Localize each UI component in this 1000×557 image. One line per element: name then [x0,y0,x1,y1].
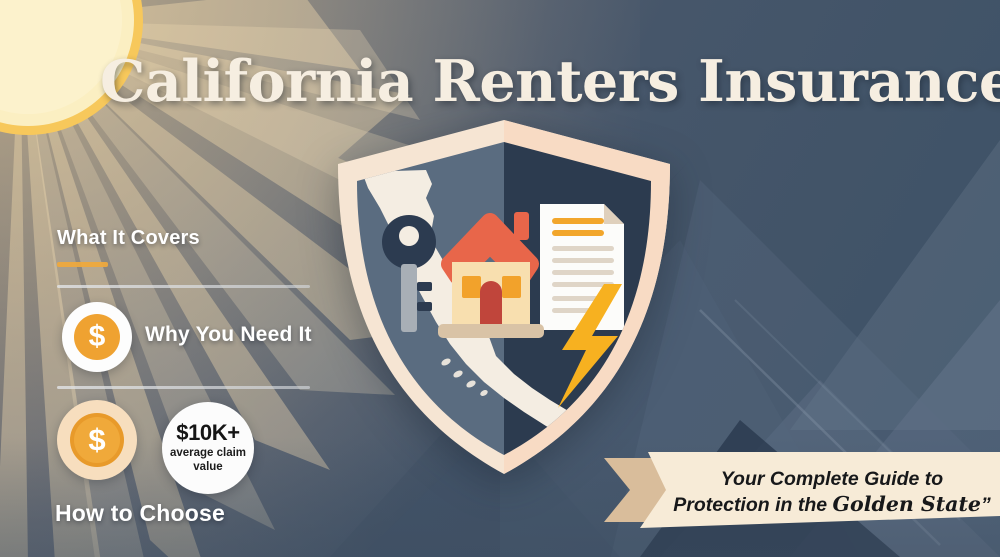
status-badge: $10K+ average claim value [162,402,254,494]
divider-2 [57,386,310,389]
sidebar: What It Covers $ Why You Need It $ $10K+… [0,0,330,557]
ribbon-text: Your Complete Guide to Protection in the… [672,466,992,520]
badge-caption: average claim value [162,447,254,473]
ribbon-line-2-emphasis: Golden State [833,492,981,516]
infographic-canvas: California Renters Insurance What It Cov… [0,0,1000,557]
shield-graphic [318,112,690,484]
dollar-coin-icon-2: $ [57,400,137,480]
divider-1 [57,285,310,288]
dollar-glyph-2: $ [57,400,137,480]
ribbon-line-2-prefix: Protection in the [673,494,832,516]
sidebar-item-why-you-need-it[interactable]: Why You Need It [145,323,312,347]
ribbon-line-2: Protection in the Golden State” [672,492,992,518]
accent-underline [57,262,108,267]
dollar-coin-icon: $ [62,302,132,372]
badge-value: $10K+ [176,422,239,444]
sidebar-item-what-it-covers[interactable]: What It Covers [57,227,200,250]
ribbon-line-1: Your Complete Guide to [672,468,992,492]
ribbon-line-2-suffix: ” [981,494,991,516]
dollar-glyph: $ [62,302,132,372]
document-icon [540,204,624,330]
sidebar-item-how-to-choose[interactable]: How to Choose [55,500,225,527]
